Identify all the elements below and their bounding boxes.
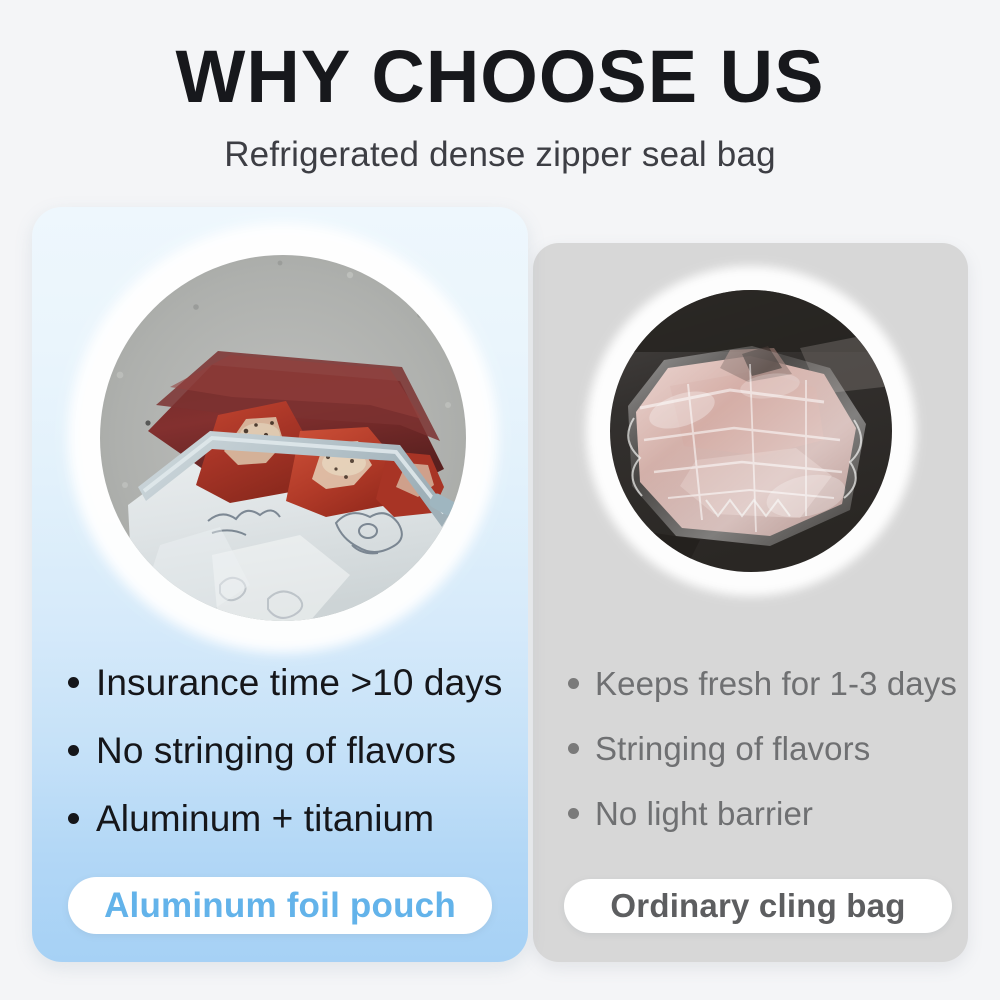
- list-item: Keeps fresh for 1-3 days: [568, 664, 958, 704]
- bullet-text: Insurance time >10 days: [96, 661, 502, 705]
- label-pill-aluminum-foil-pouch: Aluminum foil pouch: [68, 877, 492, 934]
- label-pill-ordinary-cling-bag: Ordinary cling bag: [564, 879, 952, 933]
- bullet-text: Aluminum + titanium: [96, 797, 434, 841]
- comparison-panels: Insurance time >10 days No stringing of …: [0, 0, 1000, 1000]
- bullet-dot-icon: [568, 808, 579, 819]
- bullet-dot-icon: [68, 677, 79, 688]
- bullet-dot-icon: [568, 678, 579, 689]
- list-item: Stringing of flavors: [568, 729, 958, 769]
- list-item: No light barrier: [568, 794, 958, 834]
- bullet-text: Keeps fresh for 1-3 days: [595, 664, 957, 704]
- bullet-text: Stringing of flavors: [595, 729, 870, 769]
- bullet-text: No stringing of flavors: [96, 729, 456, 773]
- list-item: Insurance time >10 days: [68, 661, 508, 705]
- infographic-page: WHY CHOOSE US Refrigerated dense zipper …: [0, 0, 1000, 1000]
- photo-cling-film-meat: [610, 290, 892, 572]
- photo-aluminum-foil-bag: [100, 255, 466, 621]
- bullet-dot-icon: [568, 743, 579, 754]
- list-item: Aluminum + titanium: [68, 797, 508, 841]
- bullet-list-aluminum-foil-pouch: Insurance time >10 days No stringing of …: [68, 661, 508, 865]
- bullet-dot-icon: [68, 813, 79, 824]
- bullet-text: No light barrier: [595, 794, 813, 834]
- bullet-dot-icon: [68, 745, 79, 756]
- list-item: No stringing of flavors: [68, 729, 508, 773]
- bullet-list-ordinary-cling-bag: Keeps fresh for 1-3 days Stringing of fl…: [568, 664, 958, 859]
